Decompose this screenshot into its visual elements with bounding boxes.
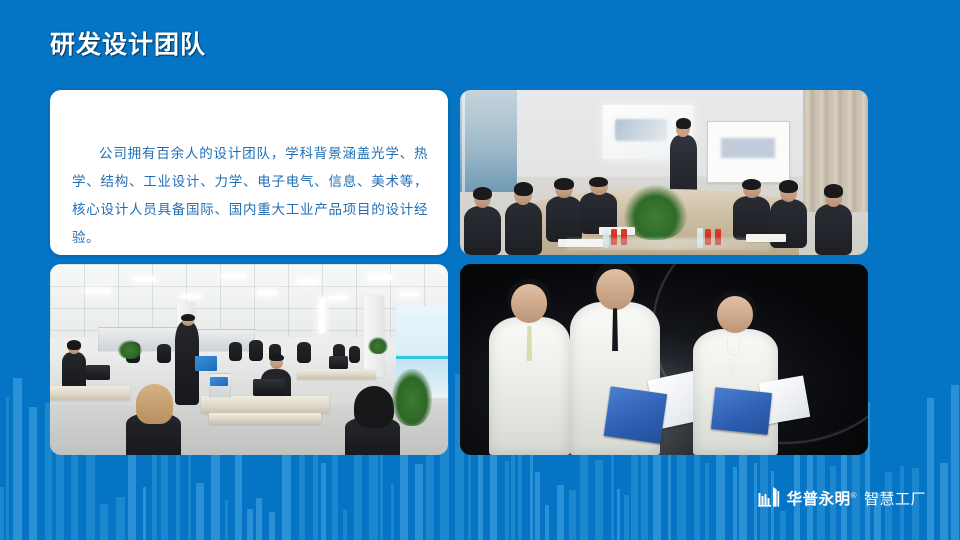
attendee — [464, 206, 501, 256]
decorative-bar — [247, 509, 253, 540]
monitor — [253, 379, 285, 396]
photo-meeting-room — [460, 90, 868, 255]
ceiling-light — [221, 274, 245, 278]
decorative-bar — [211, 455, 220, 540]
engineer-left — [489, 317, 571, 455]
description-card: 公司拥有百余人的设计团队，学科背景涵盖光学、热学、结构、工业设计、力学、电子电气… — [50, 90, 448, 255]
description-paragraph: 公司拥有百余人的设计团队，学科背景涵盖光学、热学、结构、工业设计、力学、电子电气… — [72, 140, 428, 252]
decorative-bar — [951, 385, 959, 540]
office-plant — [392, 369, 432, 426]
decorative-bar — [100, 504, 108, 540]
brand-name-text: 华普永明 — [787, 491, 851, 508]
decorative-bar — [569, 490, 576, 540]
content-grid: 公司拥有百余人的设计团队，学科背景涵盖光学、热学、结构、工业设计、力学、电子电气… — [50, 90, 868, 455]
decorative-bar — [196, 483, 204, 540]
desk-folder — [210, 377, 228, 387]
brand-subname: 智慧工厂 — [864, 492, 926, 507]
decorative-bar — [332, 440, 338, 540]
decorative-bar — [116, 497, 125, 540]
decorative-bar — [653, 448, 661, 540]
ceiling-light — [134, 277, 156, 281]
monitor — [86, 365, 110, 380]
decorative-bar — [505, 461, 509, 540]
brand-name: 华普永明® — [787, 492, 857, 508]
monitor — [329, 356, 349, 369]
decorative-bar — [624, 495, 629, 540]
worker-hair — [136, 384, 174, 424]
meeting-room-image — [460, 90, 868, 255]
decorative-bar — [557, 485, 564, 540]
blue-clipboard — [604, 386, 667, 443]
decorative-bar — [235, 453, 242, 540]
worker-hair — [269, 354, 284, 362]
blue-clipboard — [711, 387, 772, 435]
worker-hair — [354, 386, 394, 428]
office-worker — [297, 342, 311, 363]
office-plant — [368, 337, 388, 354]
decorative-bar — [595, 460, 603, 540]
open-office-image — [50, 264, 448, 455]
office-worker — [229, 342, 242, 361]
brand-logo: 华普永明® 智慧工厂 — [758, 487, 926, 512]
desk — [201, 396, 328, 413]
decorative-bar — [391, 484, 394, 540]
desk — [209, 413, 320, 424]
worker-hair — [181, 314, 195, 322]
engineer-head — [511, 284, 547, 323]
decorative-bar — [733, 467, 737, 540]
decorative-bar — [705, 463, 709, 540]
decorative-bar — [754, 463, 757, 540]
ceiling-light — [400, 293, 420, 297]
decorative-bar — [415, 464, 423, 540]
photo-watermark — [566, 238, 770, 250]
id-badge — [729, 367, 734, 374]
attendee — [505, 202, 542, 255]
attendee — [815, 204, 852, 255]
engineer-head — [717, 296, 753, 333]
decorative-bar — [780, 511, 786, 540]
office-plant — [118, 340, 142, 359]
ceiling-light — [329, 296, 349, 300]
blue-folder — [195, 356, 217, 371]
page-title: 研发设计团队 — [50, 28, 206, 62]
storage-cabinet — [197, 329, 255, 352]
decorative-bar — [617, 489, 620, 540]
worker-hair — [67, 340, 81, 350]
ceiling-light — [181, 295, 201, 299]
decorative-bar — [128, 449, 136, 540]
desk — [297, 369, 377, 379]
decorative-bar — [321, 463, 326, 540]
brand-registered-mark: ® — [851, 491, 857, 500]
decorative-bar — [6, 397, 9, 540]
decorative-bar — [29, 407, 37, 540]
office-worker — [249, 340, 263, 361]
ceiling-light — [319, 298, 325, 332]
lanyard — [727, 339, 740, 356]
office-worker — [349, 346, 361, 363]
decorative-bar — [225, 500, 228, 540]
ceiling-light — [257, 291, 277, 295]
decorative-bar — [490, 451, 497, 540]
decorative-bar — [511, 452, 515, 540]
ceiling-light — [297, 279, 319, 283]
decorative-bar — [269, 512, 275, 540]
slide-root: 研发设计团队 公司拥有百余人的设计团队，学科背景涵盖光学、热学、结构、工业设计、… — [0, 0, 960, 540]
decorative-bar — [256, 498, 262, 540]
office-worker — [157, 344, 171, 363]
ceiling-light — [86, 289, 110, 293]
desk — [50, 386, 130, 399]
decorative-bar — [13, 378, 22, 540]
decorative-bar — [343, 510, 347, 540]
decorative-bar — [535, 472, 540, 540]
lab-team-image — [460, 264, 868, 455]
ceiling-light — [368, 275, 392, 279]
decorative-bar — [545, 505, 549, 540]
attendee — [546, 196, 583, 242]
whiteboard — [707, 121, 791, 182]
engineer-head — [596, 269, 634, 310]
decorative-bar — [0, 487, 4, 540]
decorative-bar — [143, 487, 146, 540]
decorative-bar — [927, 398, 934, 540]
factory-building-logo-icon — [758, 487, 780, 512]
photo-open-office — [50, 264, 448, 455]
photo-lab-team — [460, 264, 868, 455]
meeting-wall — [460, 90, 517, 192]
decorative-bar — [940, 463, 948, 540]
